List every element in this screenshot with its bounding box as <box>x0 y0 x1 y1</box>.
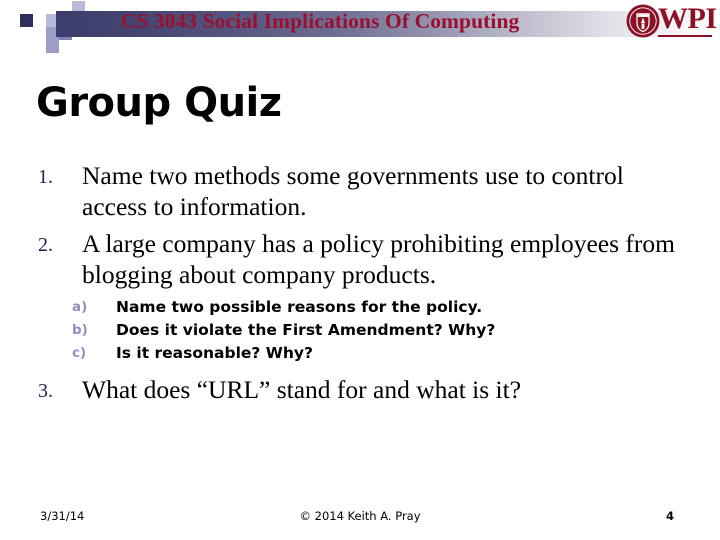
list-item-text: Name two methods some governments use to… <box>82 160 694 222</box>
slide-body-list: 1.Name two methods some governments use … <box>34 160 694 411</box>
sub-list-item-marker: a) <box>72 297 100 318</box>
sub-list-item-text: Name two possible reasons for the policy… <box>116 298 482 316</box>
list-item-marker: 2. <box>38 231 72 259</box>
sub-list-item: a)Name two possible reasons for the poli… <box>70 296 694 318</box>
slide-header: CS 3043 Social Implications Of Computing… <box>0 0 720 52</box>
wpi-seal-icon <box>626 4 660 38</box>
list-item: 1.Name two methods some governments use … <box>34 160 694 222</box>
wpi-underline <box>658 35 712 37</box>
sub-list-item: c)Is it reasonable? Why? <box>70 342 694 364</box>
wpi-logo: WPI <box>626 2 712 42</box>
deco-square-10 <box>33 40 46 53</box>
sub-list-item-text: Does it violate the First Amendment? Why… <box>116 321 495 339</box>
list-item: 3.What does “URL” stand for and what is … <box>34 374 694 405</box>
sub-list-item-text: Is it reasonable? Why? <box>116 344 313 362</box>
footer-page-number: 4 <box>666 509 674 523</box>
list-item: 2.A large company has a policy prohibiti… <box>34 228 694 290</box>
course-title: CS 3043 Social Implications Of Computing <box>0 8 640 34</box>
footer-copyright: © 2014 Keith A. Pray <box>0 509 720 523</box>
list-item-marker: 3. <box>38 377 72 405</box>
list-item-text: What does “URL” stand for and what is it… <box>82 374 694 405</box>
sub-list-item-marker: b) <box>72 320 100 341</box>
list-item-text: A large company has a policy prohibiting… <box>82 228 694 290</box>
deco-square-11 <box>46 40 59 53</box>
sub-list-item-marker: c) <box>72 343 100 364</box>
sub-list: a)Name two possible reasons for the poli… <box>34 296 694 364</box>
sub-list-item: b)Does it violate the First Amendment? W… <box>70 319 694 341</box>
list-item-marker: 1. <box>38 163 72 191</box>
page-title: Group Quiz <box>36 80 282 126</box>
deco-square-12 <box>59 40 72 53</box>
slide-canvas: CS 3043 Social Implications Of Computing… <box>0 0 720 540</box>
wpi-wordmark: WPI <box>658 3 717 35</box>
slide-footer: 3/31/14 © 2014 Keith A. Pray 4 <box>0 505 720 529</box>
